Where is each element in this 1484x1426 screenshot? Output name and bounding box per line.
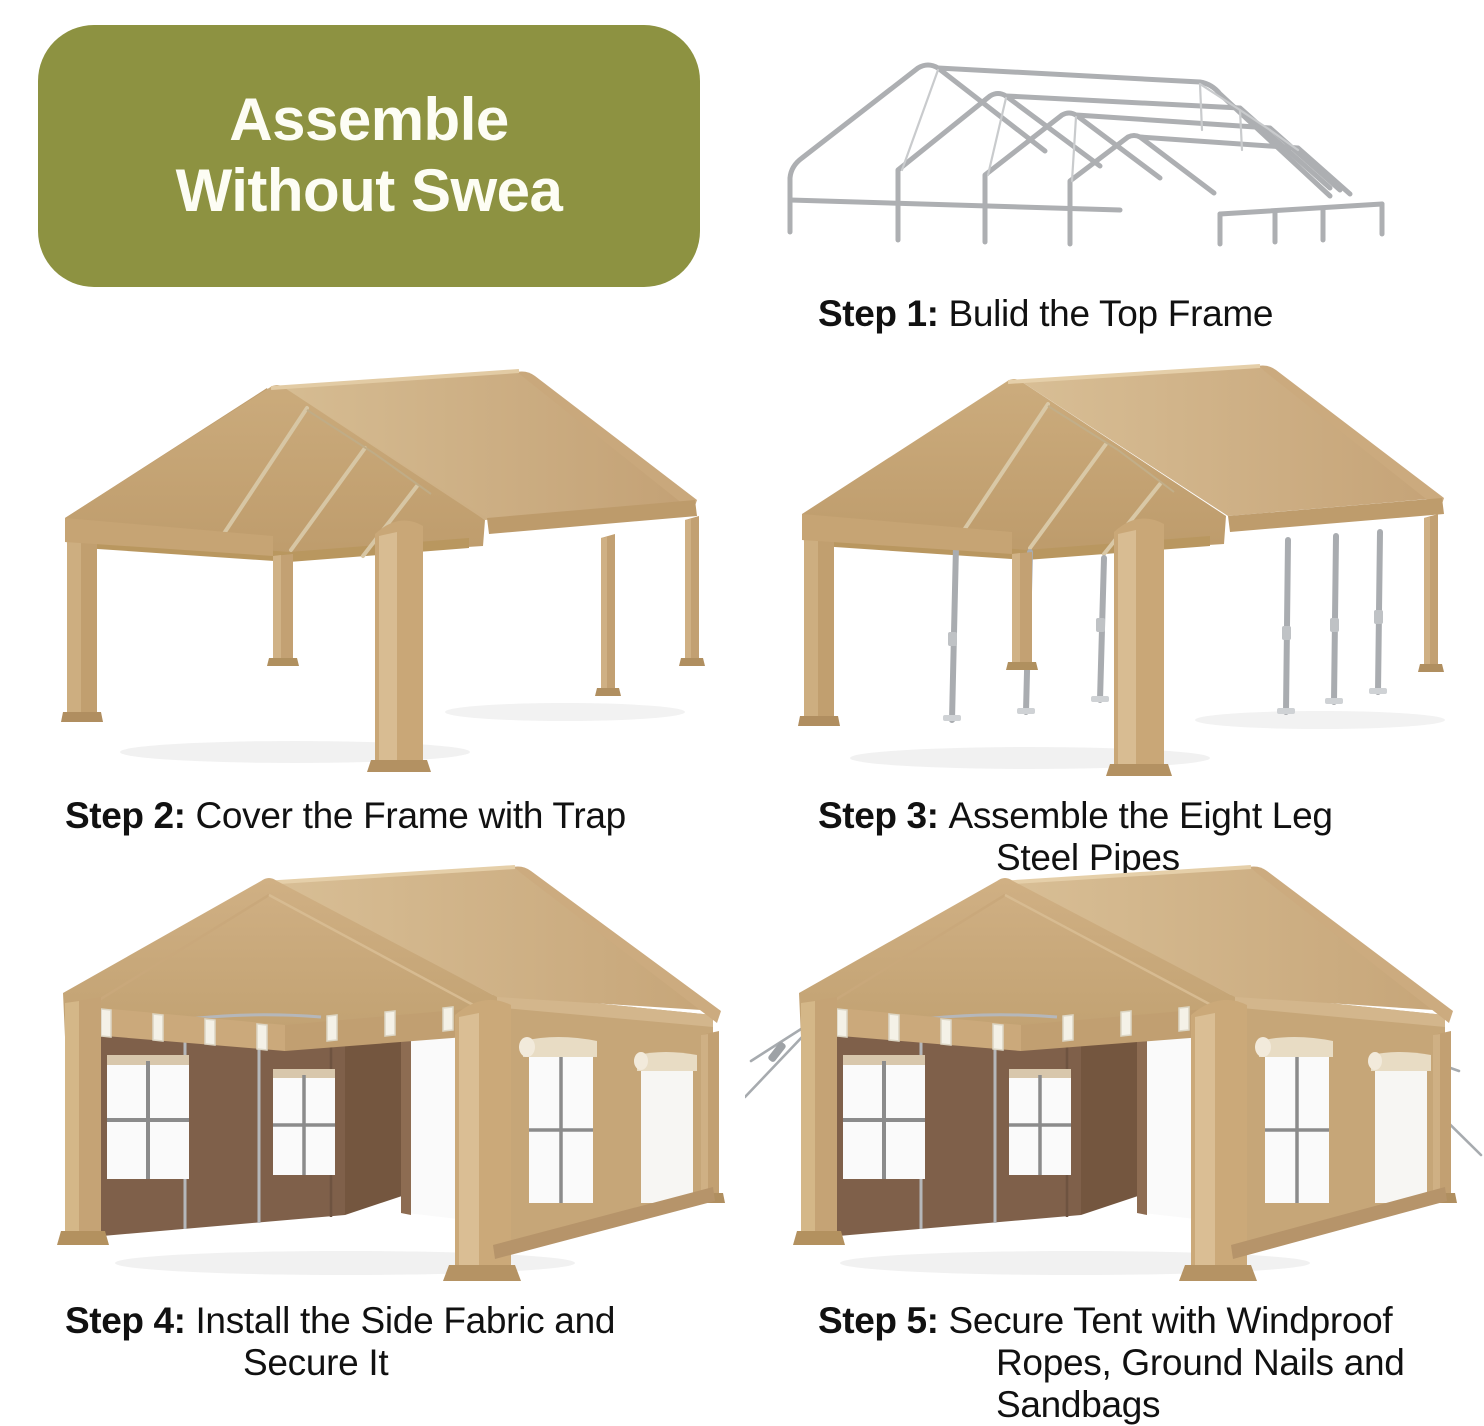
- headline-text: Assemble Without Swea: [152, 85, 587, 227]
- assembly-instruction-graphic: Assemble Without Swea: [0, 0, 1484, 1422]
- step-1-illustration: [770, 18, 1470, 283]
- canopy-covered-svg: [45, 360, 735, 780]
- canopy-with-legs-svg: [780, 360, 1480, 780]
- step-4-desc-line2: Secure It: [243, 1342, 615, 1384]
- step-4-caption: Step 4: Install the Side Fabric and Secu…: [65, 1300, 615, 1384]
- step-5-desc: Secure Tent with Windproof: [948, 1300, 1392, 1341]
- enclosed-tent-with-ropes-svg: [745, 865, 1484, 1290]
- step-1-caption: Step 1: Bulid the Top Frame: [818, 293, 1273, 335]
- step-5-lead: Step 5:: [818, 1300, 948, 1341]
- step-5-desc-line2: Ropes, Ground Nails and: [996, 1342, 1405, 1384]
- step-4-lead: Step 4:: [65, 1300, 195, 1341]
- step-5-illustration: [745, 865, 1484, 1290]
- step-5-desc-line3: Sandbags: [996, 1384, 1405, 1426]
- step-2-desc: Cover the Frame with Trap: [195, 795, 625, 836]
- step-1-lead: Step 1:: [818, 293, 948, 334]
- step-5-caption: Step 5: Secure Tent with Windproof Ropes…: [818, 1300, 1405, 1426]
- step-1-desc: Bulid the Top Frame: [948, 293, 1273, 334]
- step-4-desc: Install the Side Fabric and: [195, 1300, 615, 1341]
- step-2-caption: Step 2: Cover the Frame with Trap: [65, 795, 626, 837]
- step-4-illustration: [45, 865, 745, 1290]
- step-3-lead: Step 3:: [818, 795, 948, 836]
- step-2-lead: Step 2:: [65, 795, 195, 836]
- enclosed-tent-svg: [45, 865, 745, 1290]
- top-frame-skeleton-svg: [770, 18, 1470, 283]
- step-2-illustration: [45, 360, 735, 780]
- headline-badge: Assemble Without Swea: [38, 25, 700, 287]
- step-3-illustration: [780, 360, 1480, 780]
- step-3-desc: Assemble the Eight Leg: [948, 795, 1332, 836]
